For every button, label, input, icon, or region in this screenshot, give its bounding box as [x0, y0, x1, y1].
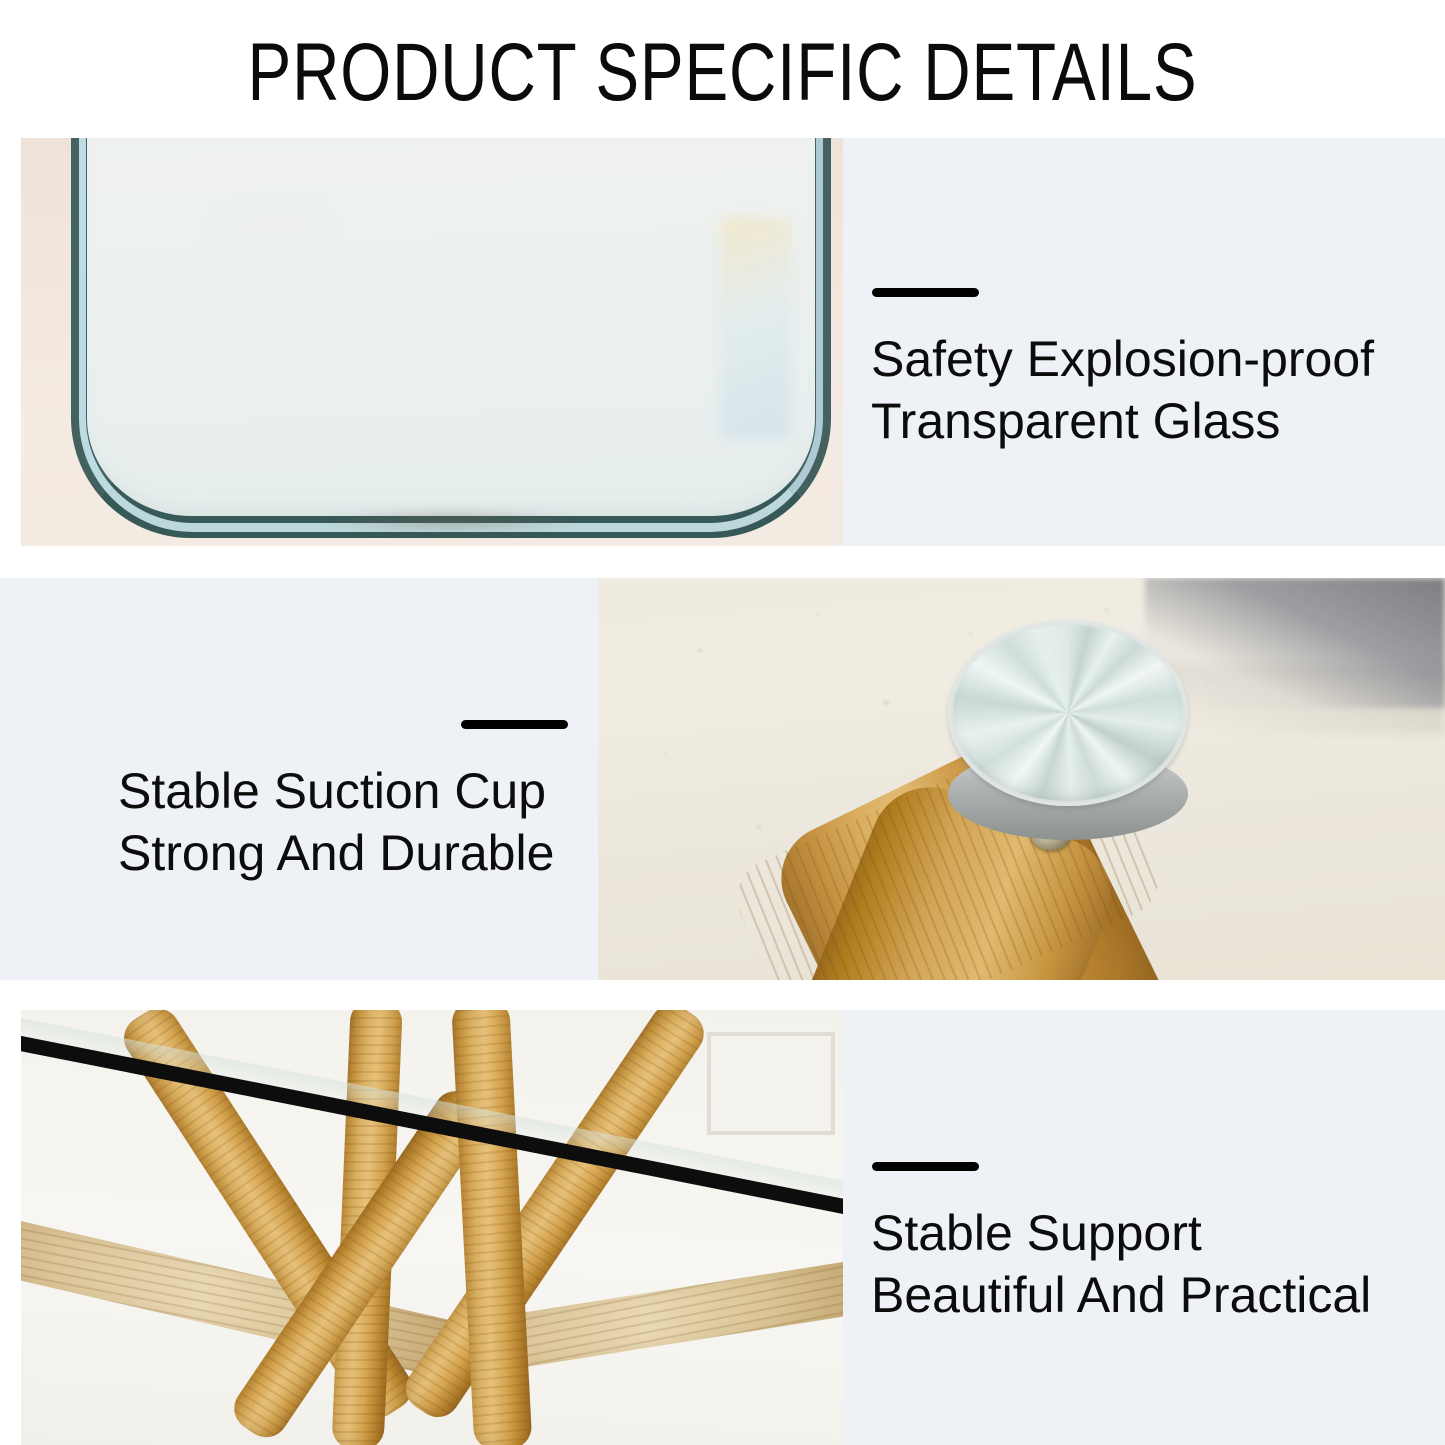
feature-panel-safety-glass: Safety Explosion-proof Transparent Glass	[0, 138, 1445, 546]
accent-rule-icon	[872, 1162, 979, 1171]
floor-shadow-corner	[1145, 578, 1445, 708]
photo-glass-corner	[21, 138, 843, 546]
background-wall-panel	[707, 1032, 835, 1135]
caption-panel-suction-cup: Stable Suction Cup Strong And Durable	[0, 578, 598, 980]
wood-leg-diagonal-b	[397, 1010, 712, 1426]
photo-table-base	[21, 1010, 843, 1445]
caption-panel-safety-glass: Safety Explosion-proof Transparent Glass	[843, 138, 1445, 546]
glass-prism-glint	[721, 218, 791, 438]
suction-cup-disc-rim	[948, 620, 1188, 806]
caption-text-suction-cup: Stable Suction Cup Strong And Durable	[118, 760, 588, 884]
glass-edge-highlight	[79, 138, 823, 532]
caption-text-safety-glass: Safety Explosion-proof Transparent Glass	[871, 328, 1431, 452]
accent-rule-icon	[461, 720, 568, 729]
accent-rule-icon	[872, 288, 979, 297]
caption-panel-stable-support: Stable Support Beautiful And Practical	[843, 1010, 1445, 1445]
page-title: PRODUCT SPECIFIC DETAILS	[145, 30, 1301, 116]
glass-corner-shadow	[321, 508, 581, 534]
feature-panel-stable-support: Stable Support Beautiful And Practical	[0, 1010, 1445, 1445]
photo-suction-cup	[598, 578, 1445, 980]
caption-text-stable-support: Stable Support Beautiful And Practical	[871, 1202, 1441, 1326]
feature-panel-suction-cup: Stable Suction Cup Strong And Durable	[0, 578, 1445, 980]
